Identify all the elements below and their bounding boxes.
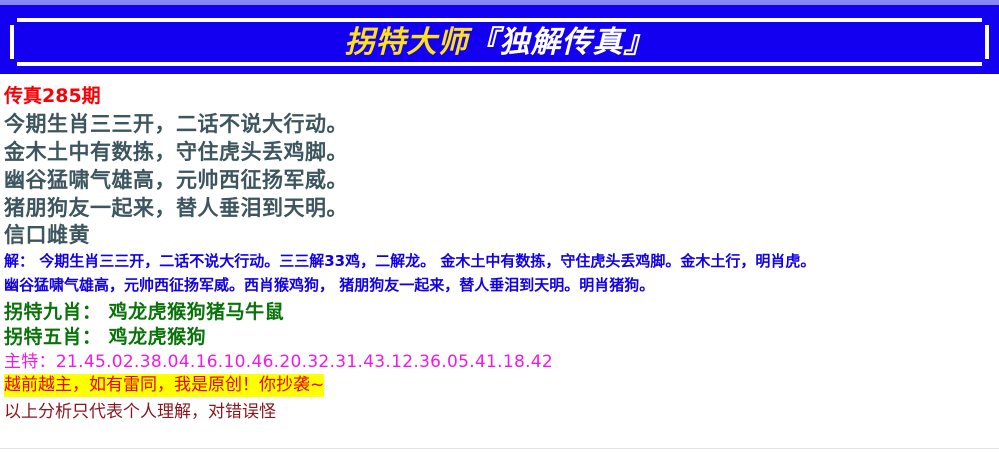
bottom-divider xyxy=(0,448,999,449)
footnote-text: 以上分析只代表个人理解，对错误怪 xyxy=(4,399,995,426)
poem-line-2: 金木土中有数拣，守住虎头丢鸡脚。 xyxy=(4,138,995,166)
poem-line-3: 幽谷猛啸气雄高，元帅西征扬军威。 xyxy=(4,166,995,194)
poem-line-1: 今期生肖三三开，二话不说大行动。 xyxy=(4,110,995,138)
banner-background: 拐特大师『独解传真』 xyxy=(0,5,999,74)
warning-row: 越前越主，如有雷同，我是原创！你抄袭~ xyxy=(4,373,995,397)
poem-line-4: 猪朋狗友一起来，替人垂泪到天明。 xyxy=(4,194,995,222)
banner-title: 拐特大师『独解传真』 xyxy=(0,17,999,61)
zodiac-five-line: 拐特五肖： 鸡龙虎猴狗 xyxy=(4,325,995,350)
banner-title-main: 拐特大师 xyxy=(345,25,469,60)
content-area: 传真285期 今期生肖三三开，二话不说大行动。 金木土中有数拣，守住虎头丢鸡脚。… xyxy=(0,80,999,426)
warning-text: 越前越主，如有雷同，我是原创！你抄袭~ xyxy=(4,374,324,397)
explanation-line-2: 幽谷猛啸气雄高，元帅西征扬军威。西肖猴鸡狗， 猪朋狗友一起来，替人垂泪到天明。明… xyxy=(4,273,995,297)
banner-title-sub: 『独解传真』 xyxy=(469,25,655,60)
explanation-line-1: 解： 今期生肖三三开，二话不说大行动。三三解33鸡，二解龙。 金木土中有数拣，守… xyxy=(4,249,995,273)
main-numbers-line: 主特：21.45.02.38.04.16.10.46.20.32.31.43.1… xyxy=(4,350,995,374)
issue-title: 传真285期 xyxy=(4,84,995,109)
zodiac-nine-line: 拐特九肖： 鸡龙虎猴狗猪马牛鼠 xyxy=(4,300,995,325)
poem-closing: 信口雌黄 xyxy=(4,222,995,249)
header-banner: 拐特大师『独解传真』 xyxy=(0,0,999,80)
